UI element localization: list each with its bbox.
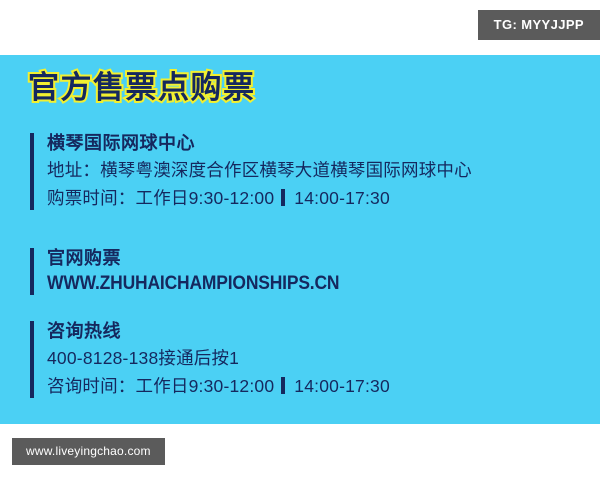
website-block: 官网购票 WWW.ZHUHAICHAMPIONSHIPS.CN (30, 245, 365, 298)
site-watermark-badge: www.liveyingchao.com (12, 438, 165, 465)
website-title: 官网购票 (47, 245, 365, 271)
hotline-hours-row: 咨询时间：工作日9:30-12:0014:00-17:30 (47, 372, 390, 400)
hotline-number[interactable]: 400-8128-138接通后按1 (47, 344, 390, 372)
venue-block: 横琴国际网球中心 地址：横琴粤澳深度合作区横琴大道横琴国际网球中心 购票时间：工… (30, 130, 472, 213)
page-title: 官方售票点购票 (28, 72, 256, 103)
hours-separator-icon (281, 377, 285, 394)
bottom-white-strip: www.liveyingchao.com (0, 424, 600, 480)
website-url[interactable]: WWW.ZHUHAICHAMPIONSHIPS.CN (47, 271, 339, 298)
venue-hours-morning: 9:30-12:00 (189, 188, 275, 208)
hours-separator-icon (281, 189, 285, 206)
hotline-hours-label: 咨询时间：工作日 (47, 376, 189, 396)
venue-hours-row: 购票时间：工作日9:30-12:0014:00-17:30 (47, 184, 472, 212)
hotline-block: 咨询热线 400-8128-138接通后按1 咨询时间：工作日9:30-12:0… (30, 318, 390, 401)
top-white-strip: TG: MYYJJPP (0, 0, 600, 55)
ticket-info-panel: 官方售票点购票 横琴国际网球中心 地址：横琴粤澳深度合作区横琴大道横琴国际网球中… (0, 55, 600, 424)
hotline-hours-afternoon: 14:00-17:30 (294, 376, 390, 396)
venue-hours-afternoon: 14:00-17:30 (294, 188, 390, 208)
tg-handle-badge: TG: MYYJJPP (478, 10, 600, 40)
venue-address: 地址：横琴粤澳深度合作区横琴大道横琴国际网球中心 (47, 156, 472, 184)
venue-title: 横琴国际网球中心 (47, 130, 472, 156)
venue-hours-label: 购票时间：工作日 (47, 188, 189, 208)
hotline-hours-morning: 9:30-12:00 (189, 376, 275, 396)
hotline-title: 咨询热线 (47, 318, 390, 344)
